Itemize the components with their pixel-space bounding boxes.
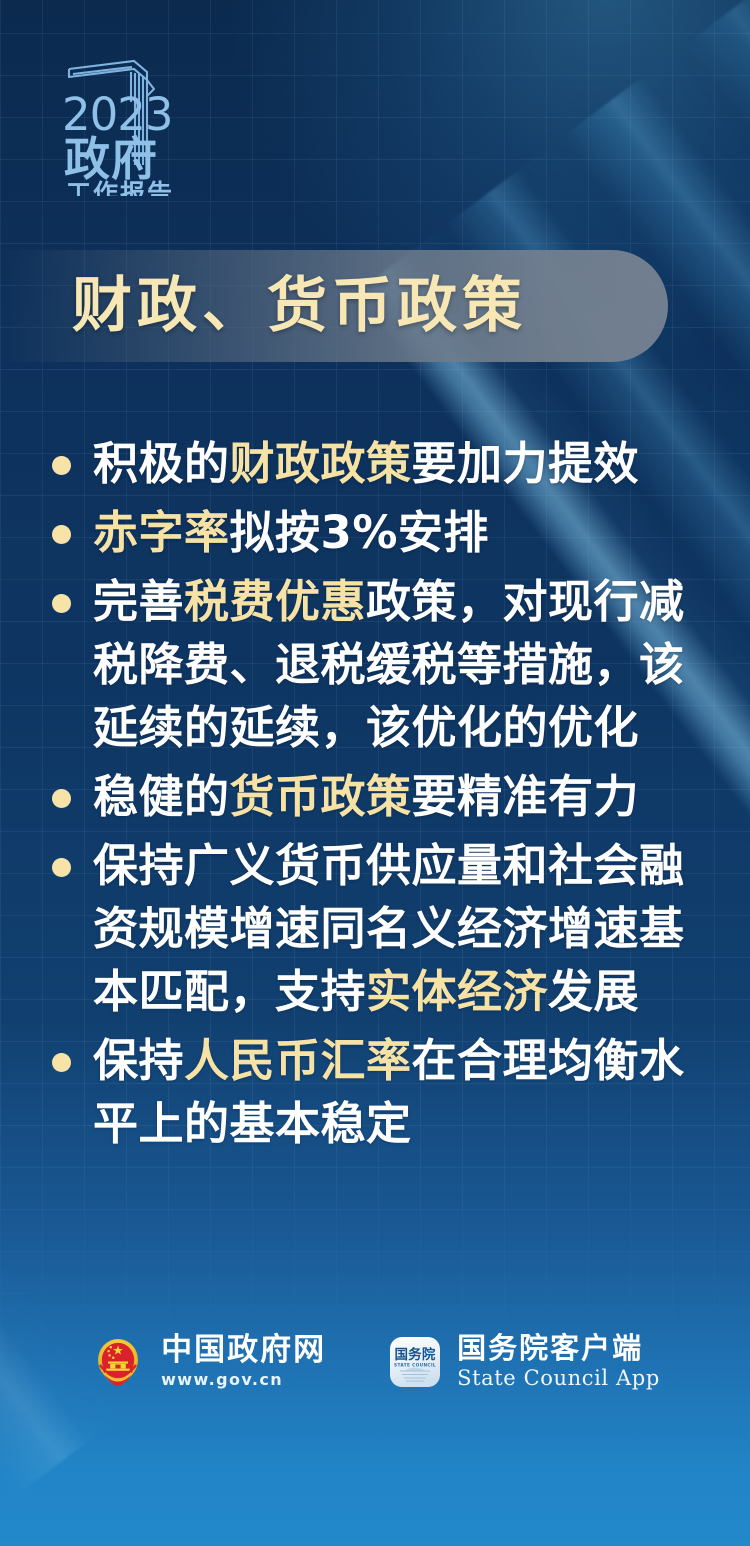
policy-point-text: 保持人民币汇率在合理均衡水平上的基本稳定 [93,1029,701,1155]
policy-point-text: 赤字率拟按3%安排 [93,501,701,564]
state-council-app-icon: 国务院 STATE COUNCIL [388,1335,442,1389]
brand-china-gov[interactable]: 中国政府网 www.gov.cn [90,1333,326,1392]
bullet-dot-icon [52,525,71,544]
bullet-dot-icon [52,594,71,613]
policy-points-list: 积极的财政政策要加力提效赤字率拟按3%安排完善税费优惠政策，对现行减税降费、退税… [0,432,750,1161]
plain-text: 完善 [93,575,184,628]
brand-state-council-name-cn: 国务院客户端 [457,1332,660,1364]
bullet-dot-icon [52,456,71,475]
national-emblem-icon [90,1334,146,1390]
plain-text: 发展 [548,965,639,1018]
policy-point-text: 积极的财政政策要加力提效 [93,432,701,495]
highlighted-term: 实体经济 [366,965,548,1018]
plain-text: 稳健的 [93,770,230,823]
bullet-dot-icon [52,858,71,877]
report-book-icon: 2023 政府 工作报告 [44,44,194,196]
policy-point: 赤字率拟按3%安排 [0,501,724,564]
brand-state-council-app[interactable]: 国务院 STATE COUNCIL 国务院客户端 State Council A… [388,1332,660,1392]
policy-point-text: 保持广义货币供应量和社会融资规模增速同名义经济增速基本匹配，支持实体经济发展 [93,834,701,1023]
policy-point: 稳健的货币政策要精准有力 [0,765,724,828]
plain-text: 要加力提效 [412,437,640,490]
policy-point: 保持广义货币供应量和社会融资规模增速同名义经济增速基本匹配，支持实体经济发展 [0,834,724,1023]
policy-point: 完善税费优惠政策，对现行减税降费、退税缓税等措施，该延续的延续，该优化的优化 [0,570,724,759]
section-title-pill: 财政、货币政策 [0,250,668,362]
plain-text: 拟按3%安排 [230,506,489,559]
report-mark-logo: 2023 政府 工作报告 [44,44,194,196]
highlighted-term: 税费优惠 [184,575,366,628]
page-title: 财政、货币政策 [72,276,527,336]
poster-root: 2023 政府 工作报告 财政、货币政策 积极的财政政策要加力提效赤字率拟按3%… [0,0,750,1546]
plain-text: 保持 [93,1034,184,1087]
bullet-dot-icon [52,1053,71,1072]
brand-china-gov-url: www.gov.cn [161,1370,326,1391]
svg-text:政府: 政府 [64,132,158,186]
policy-point: 积极的财政政策要加力提效 [0,432,724,495]
policy-point-text: 完善税费优惠政策，对现行减税降费、退税缓税等措施，该延续的延续，该优化的优化 [93,570,701,759]
svg-text:国务院: 国务院 [395,1346,436,1363]
highlighted-term: 财政政策 [230,437,412,490]
brand-state-council-name-en: State Council App [457,1366,660,1391]
bullet-dot-icon [52,789,71,808]
svg-text:工作报告: 工作报告 [66,179,174,196]
brand-china-gov-name: 中国政府网 [161,1333,326,1368]
policy-point-text: 稳健的货币政策要精准有力 [93,765,701,828]
highlighted-term: 赤字率 [93,506,230,559]
policy-point: 保持人民币汇率在合理均衡水平上的基本稳定 [0,1029,724,1155]
footer-brands: 中国政府网 www.gov.cn 国务院 STATE COUNCIL [0,1332,750,1392]
plain-text: 要精准有力 [412,770,640,823]
plain-text: 积极的 [93,437,230,490]
highlighted-term: 货币政策 [230,770,412,823]
highlighted-term: 人民币汇率 [184,1034,412,1087]
